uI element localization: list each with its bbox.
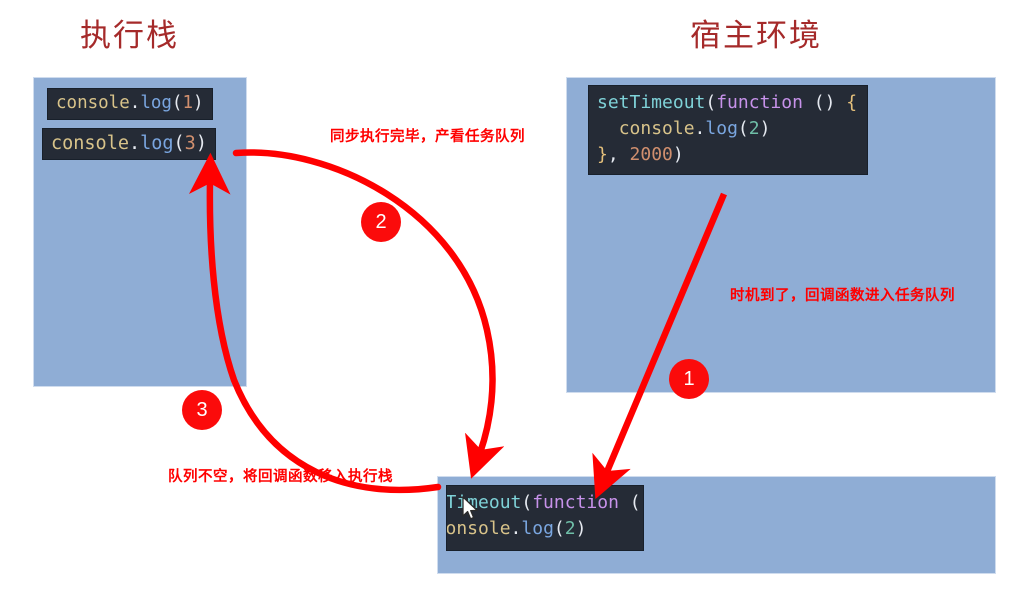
code-token: . bbox=[511, 518, 522, 539]
host-settimeout-code-block: setTimeout(function () { console.log(2)}… bbox=[588, 85, 868, 175]
annotation-step-3-label: 队列不空，将回调函数移入执行栈 bbox=[168, 470, 393, 485]
code-token: console bbox=[51, 133, 129, 154]
code-token: ( bbox=[174, 133, 185, 154]
step-badge-1: 1 bbox=[669, 359, 709, 399]
code-token: log bbox=[140, 133, 173, 154]
code-line: setTimeout(function () { bbox=[597, 90, 857, 116]
page-title-call-stack: 执行栈 bbox=[80, 20, 179, 51]
page-title-host-environment: 宿主环境 bbox=[690, 20, 822, 51]
code-token: ) bbox=[673, 144, 684, 165]
step-badge-3: 3 bbox=[182, 390, 222, 430]
annotation-step-2-label: 同步执行完毕，产看任务队列 bbox=[330, 130, 525, 145]
stack-frame-console-log-1: console.log(1) bbox=[47, 88, 213, 120]
code-token: log bbox=[705, 118, 738, 139]
code-token: } bbox=[597, 144, 608, 165]
code-token: 2000 bbox=[630, 144, 673, 165]
code-token bbox=[597, 118, 619, 139]
event-loop-diagram: 执行栈 宿主环境 console.log(1) console.log(3) s… bbox=[0, 0, 1036, 595]
code-token: log bbox=[521, 518, 554, 539]
code-token: function bbox=[716, 92, 803, 113]
stack-frame-console-log-3: console.log(3) bbox=[42, 128, 216, 160]
code-token: setTimeout bbox=[446, 492, 521, 513]
code-token: { bbox=[846, 92, 857, 113]
code-token: 2 bbox=[749, 118, 760, 139]
code-token: console bbox=[56, 93, 130, 113]
code-token: 3 bbox=[185, 133, 196, 154]
code-token: . bbox=[695, 118, 706, 139]
code-token: ( bbox=[521, 492, 532, 513]
call-stack-panel bbox=[33, 77, 247, 387]
code-token: log bbox=[140, 93, 172, 113]
code-token: . bbox=[129, 133, 140, 154]
step-badge-2: 2 bbox=[361, 202, 401, 242]
code-token: () bbox=[619, 492, 644, 513]
code-token: ) bbox=[196, 133, 207, 154]
code-token: setTimeout bbox=[597, 92, 705, 113]
code-line: console.log(2) bbox=[597, 116, 857, 142]
code-token: ( bbox=[172, 93, 183, 113]
code-token: 1 bbox=[182, 93, 193, 113]
mouse-cursor bbox=[462, 496, 480, 522]
code-token: . bbox=[130, 93, 141, 113]
code-line: }, 2000) bbox=[597, 142, 857, 168]
code-token: () bbox=[803, 92, 846, 113]
code-token: ( bbox=[705, 92, 716, 113]
code-token: console bbox=[619, 118, 695, 139]
code-token: ) bbox=[576, 518, 587, 539]
code-token: ) bbox=[193, 93, 204, 113]
code-token: ( bbox=[554, 518, 565, 539]
code-token: ) bbox=[760, 118, 771, 139]
annotation-step-1-label: 时机到了，回调函数进入任务队列 bbox=[730, 289, 955, 304]
code-token: ( bbox=[738, 118, 749, 139]
code-token: 2 bbox=[565, 518, 576, 539]
code-token: , bbox=[608, 144, 630, 165]
arrow-2-stack-to-queue bbox=[236, 152, 493, 453]
code-token: function bbox=[532, 492, 619, 513]
